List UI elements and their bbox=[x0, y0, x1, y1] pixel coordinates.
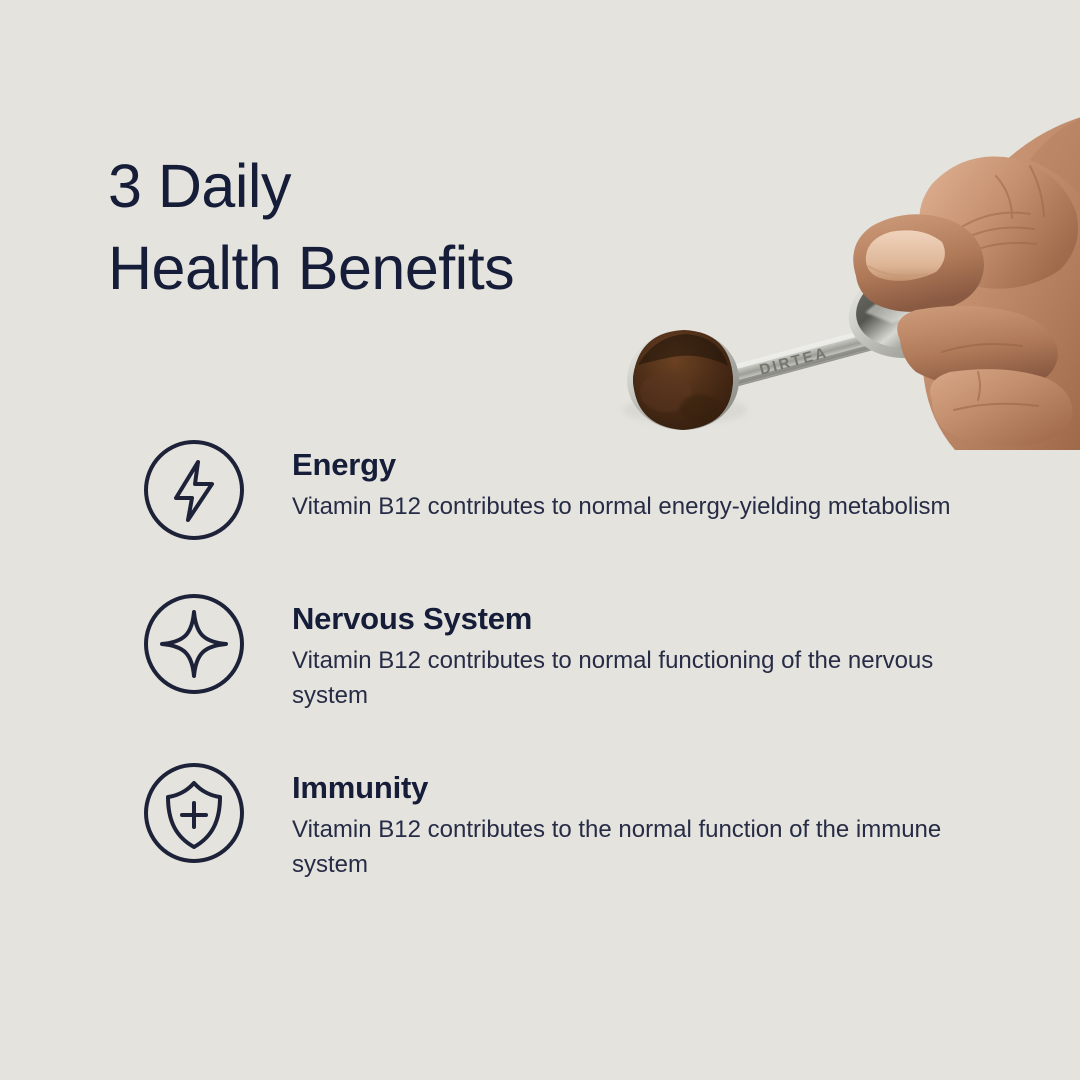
benefit-item-nervous-system: Nervous System Vitamin B12 contributes t… bbox=[140, 590, 1000, 713]
spoon-brand-engraving: DIRTEA bbox=[758, 344, 830, 379]
benefit-title: Nervous System bbox=[292, 602, 1000, 637]
spoon-2g-engraving: 2g bbox=[712, 374, 728, 389]
spoon-6g-engraving: 6g bbox=[870, 331, 886, 346]
benefit-item-immunity: Immunity Vitamin B12 contributes to the … bbox=[140, 759, 1000, 882]
spoon-large-scoop bbox=[840, 250, 993, 370]
promo-card: 3 Daily Health Benefits bbox=[0, 0, 1080, 1080]
spoon-small-scoop bbox=[627, 330, 739, 430]
benefit-text-block: Nervous System Vitamin B12 contributes t… bbox=[292, 590, 1000, 713]
shield-plus-icon bbox=[140, 759, 248, 867]
page-title: 3 Daily Health Benefits bbox=[108, 145, 514, 309]
lightning-bolt-icon bbox=[140, 436, 248, 544]
sparkle-star-icon bbox=[140, 590, 248, 698]
hand bbox=[853, 112, 1080, 450]
benefit-description: Vitamin B12 contributes to normal functi… bbox=[292, 644, 952, 714]
benefit-title: Energy bbox=[292, 448, 1000, 483]
product-photo: 2g DIRTEA 6g bbox=[560, 0, 1080, 480]
benefit-item-energy: Energy Vitamin B12 contributes to normal… bbox=[140, 436, 1000, 544]
benefit-text-block: Energy Vitamin B12 contributes to normal… bbox=[292, 436, 1000, 525]
benefit-title: Immunity bbox=[292, 771, 1000, 806]
benefits-list: Energy Vitamin B12 contributes to normal… bbox=[140, 436, 1000, 883]
benefit-description: Vitamin B12 contributes to the normal fu… bbox=[292, 813, 952, 883]
benefit-text-block: Immunity Vitamin B12 contributes to the … bbox=[292, 759, 1000, 882]
benefit-description: Vitamin B12 contributes to normal energy… bbox=[292, 490, 952, 525]
